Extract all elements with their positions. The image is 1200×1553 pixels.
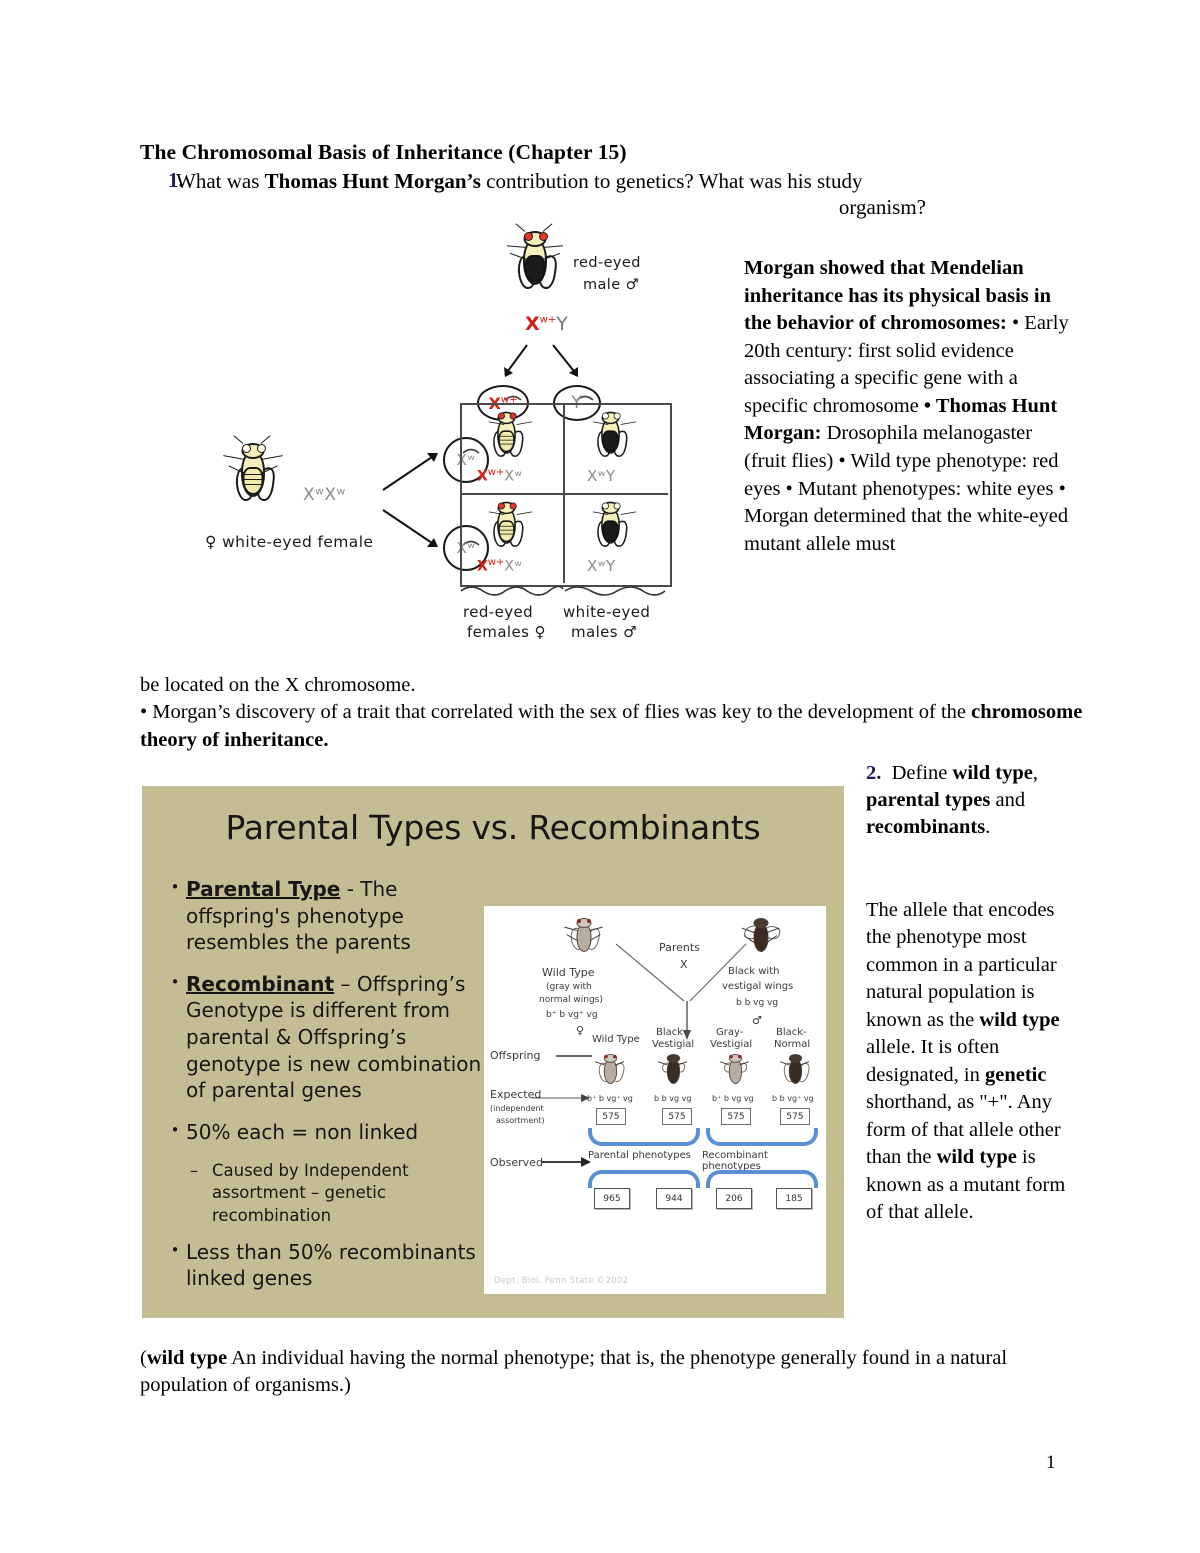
q2-a: Define (892, 762, 953, 784)
fly-cell-bottom-left (487, 497, 526, 545)
cell-br-genotype: XʷY (587, 557, 616, 575)
eye-right-icon (738, 1055, 742, 1059)
slide-panel: Parental Types vs. Recombinants • Parent… (142, 786, 844, 1318)
answer-1-bullet-4: • Mutant phenotypes: white eyes (786, 478, 1054, 500)
para1-line1: be located on the X chromosome. (140, 672, 1085, 699)
q2-g: . (985, 816, 990, 838)
punnett-grid-hline (460, 493, 668, 495)
q1-part-bold: Thomas Hunt Morgan’s (265, 169, 481, 193)
parents-label: Parents (659, 941, 700, 954)
q2-f: recombinants (866, 816, 985, 838)
slide-bullet-3-text: 50% each = non linked (186, 1119, 418, 1146)
cell-tl-x2: Xʷ (504, 469, 522, 485)
observed-label: Observed (490, 1156, 543, 1169)
brace-parental-down (588, 1128, 700, 1146)
cell-tr-genotype: XʷY (587, 467, 616, 485)
dash-icon: – (190, 1160, 212, 1226)
q2-d: parental types (866, 789, 990, 811)
body-icon (789, 1059, 802, 1084)
question-2-number: 2. (866, 762, 881, 784)
q1-part-a: What was (176, 169, 265, 193)
answer-2-p2: allele. It is often designated, in (866, 1036, 999, 1085)
bullet-dot-icon: • (164, 1239, 186, 1292)
slide-bullet-3: • 50% each = non linked (164, 1119, 502, 1146)
cell-bl-genotype: Xw+Xʷ (477, 557, 522, 575)
expected-label: Expected (490, 1088, 541, 1101)
parent-left-desc1: (gray with (546, 982, 592, 992)
brace-label-red-eyed-females-1: red-eyed (463, 603, 533, 621)
question-1: 1. What was Thomas Hunt Morgan’s contrib… (140, 168, 1080, 221)
cell-bl-sup: w+ (488, 557, 505, 568)
offspring-2-name1: Gray- (716, 1027, 743, 1038)
parent-right-name2: vestigal wings (722, 981, 793, 992)
expected-value-1: 575 (662, 1108, 692, 1125)
offspring-1-genotype: b b vg vg (654, 1094, 691, 1103)
expected-value-3: 575 (780, 1108, 810, 1125)
eye-left-icon (577, 919, 581, 923)
slide-bullet-2: • Recombinant – Offspring’s Genotype is … (164, 971, 502, 1104)
male-caption-line2: male ♂ (583, 277, 639, 293)
slide-bullet-2-term: Recombinant (186, 972, 334, 996)
slide-subbullet-text: Caused by Independent assortment – genet… (212, 1160, 502, 1226)
page-title: The Chromosomal Basis of Inheritance (Ch… (140, 139, 1080, 166)
cross-diagram: Wild Type (gray with normal wings) b⁺ b … (484, 906, 826, 1294)
male-genotype-sup: w+ (540, 315, 557, 326)
fly-cell-top-left (487, 407, 526, 455)
q1-part-c: contribution to genetics? What was his s… (481, 169, 863, 193)
expected-sub2: assortment) (496, 1116, 545, 1125)
answer-2-b1: wild type (979, 1009, 1059, 1031)
brace-label-red-eyed-females-2: females ♀ (467, 623, 546, 641)
leg-1-icon (507, 245, 527, 248)
q2-e: and (990, 789, 1025, 811)
offspring-0-genotype: b⁺ b vg⁺ vg (587, 1094, 633, 1103)
brace-recombinant-down (706, 1128, 818, 1146)
leg-2-icon (543, 245, 563, 248)
offspring-fly-black-normal (784, 1054, 807, 1084)
eye-left-red-icon (498, 502, 505, 509)
offspring-1-name2: Vestigial (652, 1039, 694, 1050)
offspring-1-name1: Black- (656, 1027, 687, 1038)
eye-right-red-icon (510, 502, 517, 509)
fly-white-eyed-female (223, 437, 283, 517)
parent-left-genotype: b⁺ b vg⁺ vg (546, 1010, 598, 1020)
offspring-3-genotype: b b vg⁺ vg (772, 1094, 814, 1103)
observed-value-0: 965 (594, 1188, 630, 1209)
antenna-left-icon (233, 435, 243, 443)
eye-left-white-icon (602, 502, 609, 509)
head-icon (667, 1054, 680, 1063)
eye-left-white-icon (602, 412, 609, 419)
abdomen-icon (498, 520, 514, 542)
slide-title: Parental Types vs. Recombinants (142, 808, 844, 847)
parent-right-genotype: b b vg vg (736, 998, 778, 1008)
expected-value-0: 575 (596, 1108, 626, 1125)
body-icon (667, 1059, 680, 1084)
cell-bl-x2: Xʷ (504, 559, 522, 575)
slide-bullet-1-term: Parental Type (186, 877, 340, 901)
brace-recombinant-up (706, 1170, 818, 1188)
brace-label-white-eyed-males-2: males ♂ (571, 623, 637, 641)
expected-value-2: 575 (721, 1108, 751, 1125)
offspring-0-name1: Wild Type (592, 1034, 640, 1045)
parent-right-name1: Black with (728, 966, 779, 977)
answer-2-b2: genetic (985, 1064, 1046, 1086)
para2-bold: wild type (147, 1347, 227, 1369)
offspring-fly-black-vestigial (662, 1054, 685, 1084)
body-icon (577, 924, 592, 952)
female-caption: ♀ white-eyed female (205, 533, 373, 551)
slide-bullet-1: • Parental Type - The offspring's phenot… (164, 876, 502, 956)
eye-right-white-icon (257, 444, 266, 453)
eye-left-white-icon (242, 444, 251, 453)
brace-parental-up (588, 1170, 700, 1188)
male-caption-line1: red-eyed (573, 255, 641, 271)
head-icon (789, 1054, 802, 1063)
offspring-3-name2: Normal (774, 1039, 810, 1050)
parent-fly-black-vestigial (746, 918, 776, 958)
brace-right-label: Recombinant phenotypes (702, 1150, 826, 1172)
male-genotype-x: X (525, 313, 540, 335)
fly-cell-top-right (591, 407, 630, 455)
question-2: 2. Define wild type, parental types and … (866, 760, 1071, 841)
eye-right-white-icon (614, 412, 621, 419)
cross-symbol: X (680, 958, 688, 971)
para1-line2-text: • Morgan’s discovery of a trait that cor… (140, 701, 971, 723)
antenna-right-icon (261, 435, 271, 443)
para2-rest: An individual having the normal phenotyp… (140, 1347, 1007, 1396)
abdomen-icon (498, 430, 514, 452)
answer-1-block: Morgan showed that Mendelian inheritance… (744, 255, 1074, 558)
brace-label-white-eyed-males-1: white-eyed (563, 603, 650, 621)
closing-paragraph: (wild type An individual having the norm… (140, 1345, 1085, 1400)
slide-bullet-list: • Parental Type - The offspring's phenot… (164, 876, 502, 1307)
parent-left-sex: ♀ (576, 1024, 584, 1037)
offspring-2-name2: Vestigial (710, 1039, 752, 1050)
offspring-fly-gray-vestigial (724, 1054, 747, 1084)
answer-1-heading: Morgan showed that Mendelian inheritance… (744, 257, 1051, 334)
slide-subbullet: – Caused by Independent assortment – gen… (190, 1160, 502, 1226)
figure-credit: Dept. Biol. Penn State ©2002 (494, 1276, 628, 1286)
antenna-right-icon (543, 223, 553, 231)
eye-left-icon (604, 1055, 608, 1059)
abdomen-icon (243, 467, 264, 495)
head-icon (754, 918, 769, 928)
answer-2-block: The allele that encodes the phenotype mo… (866, 897, 1076, 1227)
cell-tl-sup: w+ (488, 467, 505, 478)
offspring-2-genotype: b⁺ b vg vg (712, 1094, 754, 1103)
eye-right-icon (587, 919, 591, 923)
eye-right-red-icon (510, 412, 517, 419)
abdomen-icon (602, 520, 618, 542)
q1-line2: organism? (176, 194, 1056, 221)
offspring-fly-wild-type (599, 1054, 622, 1084)
document-page: The Chromosomal Basis of Inheritance (Ch… (0, 0, 1200, 1553)
expected-sub1: (independent (490, 1104, 544, 1113)
question-1-text: What was Thomas Hunt Morgan’s contributi… (176, 168, 1056, 221)
answer-2-b3: wild type (937, 1146, 1017, 1168)
question-1-number: 1. (140, 168, 176, 221)
male-genotype-y: Y (556, 313, 568, 335)
cell-bl-x: X (477, 559, 488, 575)
fly-cell-bottom-right (591, 497, 630, 545)
eye-right-white-icon (614, 502, 621, 509)
female-genotype: XʷXʷ (303, 485, 346, 505)
bullet-dot-icon: • (164, 1119, 186, 1146)
q2-c: , (1033, 762, 1038, 784)
eye-right-icon (613, 1055, 617, 1059)
parent-left-desc2: normal wings) (539, 995, 603, 1005)
bullet-dot-icon: • (164, 876, 186, 956)
parent-fly-wild-type (569, 918, 599, 958)
para1-line2: • Morgan’s discovery of a trait that cor… (140, 699, 1085, 754)
paragraph-after-figure: be located on the X chromosome. • Morgan… (140, 672, 1085, 754)
body-icon (754, 924, 769, 952)
observed-value-3: 185 (776, 1188, 812, 1209)
body-icon (729, 1059, 742, 1084)
observed-value-1: 944 (656, 1188, 692, 1209)
offspring-3-name1: Black- (776, 1027, 807, 1038)
document-header: The Chromosomal Basis of Inheritance (Ch… (140, 139, 1080, 221)
punnett-square-figure: red-eyed male ♂ Xw+Y Xw+ Y (205, 225, 705, 650)
male-genotype: Xw+Y (525, 313, 568, 335)
antenna-left-icon (515, 223, 525, 231)
parent-left-name: Wild Type (542, 966, 595, 979)
fly-red-eyed-male (505, 225, 565, 303)
parent-right-sex: ♂ (752, 1014, 762, 1027)
leg-1-icon (223, 455, 245, 460)
eye-right-red-icon (539, 232, 548, 241)
observed-value-2: 206 (716, 1188, 752, 1209)
bullet-dot-icon: • (164, 971, 186, 1104)
abdomen-icon (602, 430, 618, 452)
slide-bullet-1-text: Parental Type - The offspring's phenotyp… (186, 876, 502, 956)
cell-tl-x: X (477, 469, 488, 485)
leg-2-icon (261, 455, 283, 460)
cell-tl-genotype: Xw+Xʷ (477, 467, 522, 485)
brace-left-label: Parental phenotypes (588, 1150, 691, 1161)
page-number: 1 (1046, 1452, 1056, 1474)
q2-b: wild type (953, 762, 1033, 784)
offspring-label: Offspring (490, 1049, 540, 1062)
eye-left-red-icon (498, 412, 505, 419)
eye-left-icon (729, 1055, 733, 1059)
eye-left-red-icon (524, 232, 533, 241)
para2-open: ( (140, 1347, 147, 1369)
body-icon (604, 1059, 617, 1084)
slide-bullet-2-text: Recombinant – Offspring’s Genotype is di… (186, 971, 502, 1104)
